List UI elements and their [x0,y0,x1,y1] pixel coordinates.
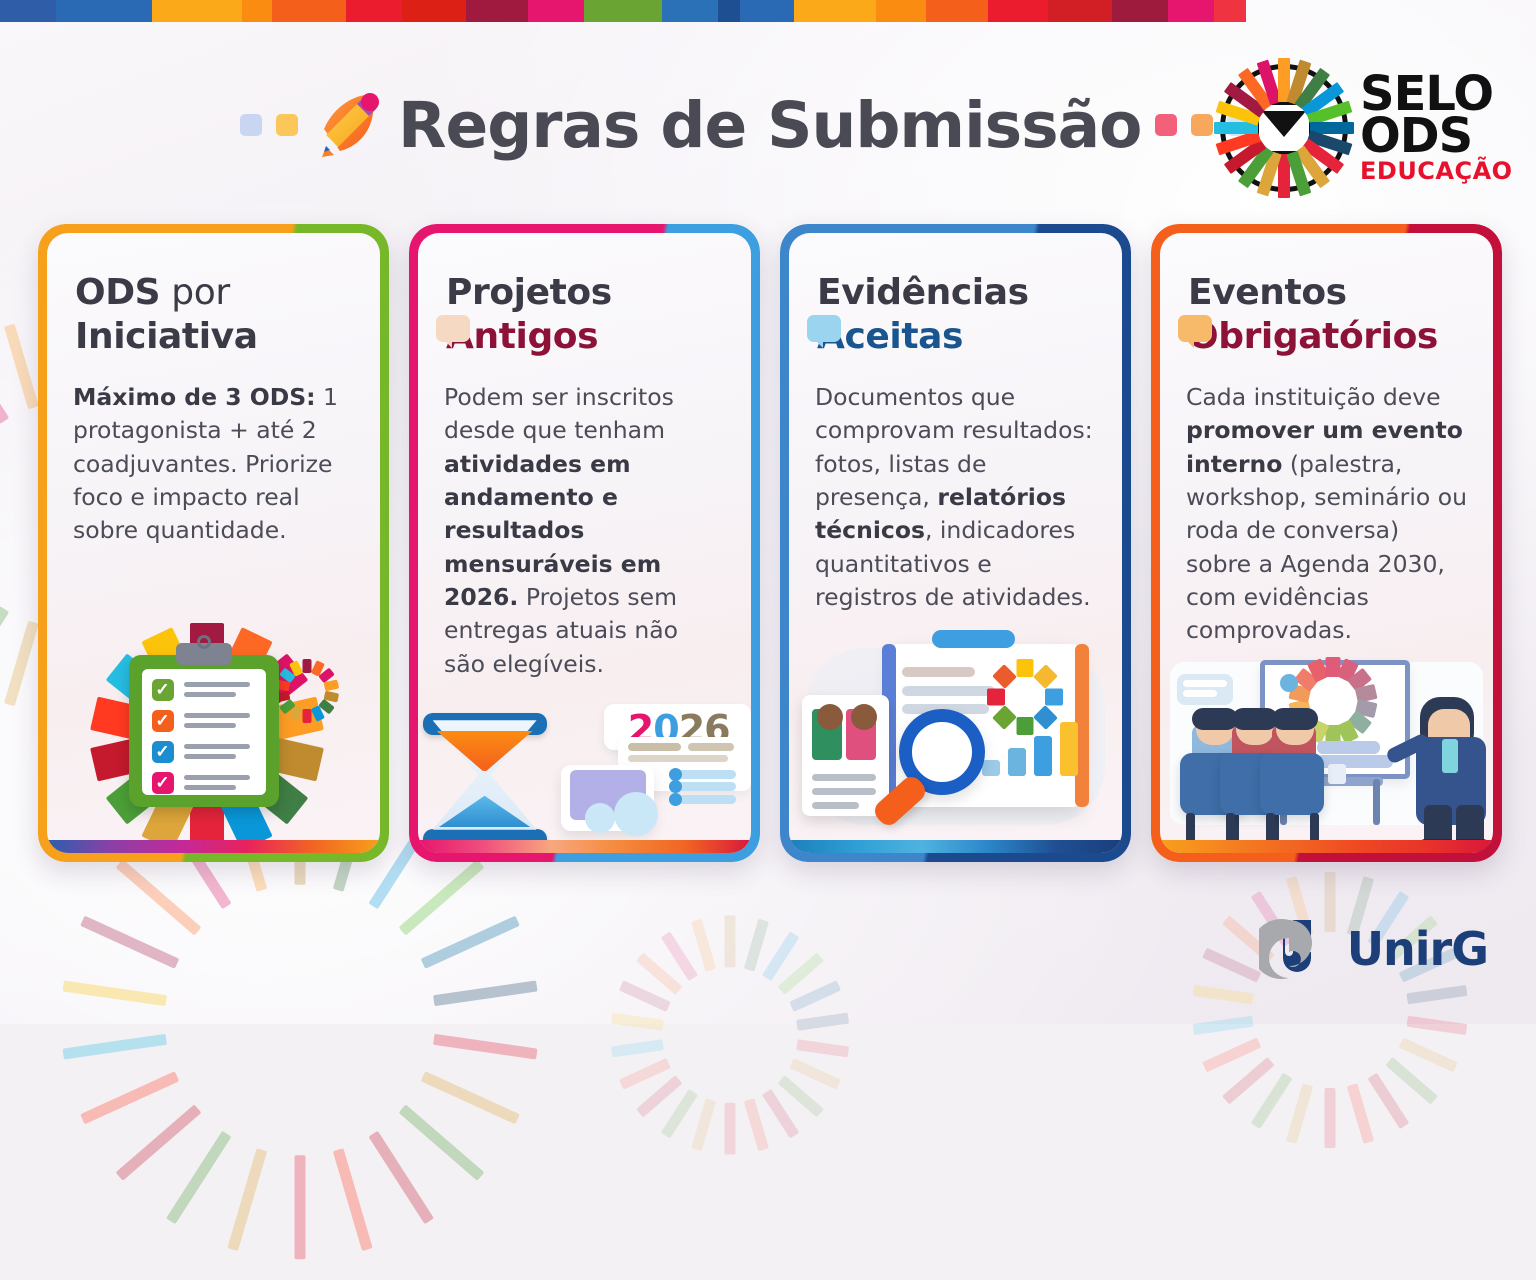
top-color-bar [0,0,1536,22]
sdg-wheel-icon [1220,64,1348,192]
rule-card-evidencias-aceitas[interactable]: EvidênciasAceitasDocumentos que comprova… [780,224,1131,862]
top-bar-segment [794,0,876,22]
card-illustration-hourglass-2026-documents: 2026 [418,687,751,853]
donut-segment [993,664,1018,689]
wheel-segment [62,981,167,1007]
card-illustration-sdg-wheel-clipboard-checklist: ✓✓✓✓ [47,554,380,853]
wheel-segment [4,324,39,410]
wheel-segment [796,1039,849,1057]
wheel-segment [691,919,716,972]
wheel-segment [1193,985,1254,1004]
wheel-segment [399,859,485,935]
top-bar-segment [662,0,718,22]
wheel-segment [0,606,9,684]
wheel-segment [421,916,520,969]
art-shape [812,774,875,781]
art-shape [184,754,236,759]
art-shape [184,785,236,790]
art-shape [614,792,658,836]
card-footer-bar [789,840,1122,853]
top-bar-segment [876,0,926,22]
wheel-segment [1406,1016,1467,1035]
wheel-segment [62,1034,167,1060]
wheel-segment [789,980,841,1012]
art-shape [1034,736,1052,776]
top-bar-segment [402,0,466,22]
wheel-segment [611,1039,664,1057]
checklist-check-icon: ✓ [152,710,174,732]
art-shape [184,692,236,697]
art-shape [688,743,735,751]
rule-card-eventos-obrigatorios[interactable]: EventosObrigatóriosCada instituição deve… [1151,224,1502,862]
card-title: ProjetosAntigos [446,271,723,359]
art-shape [902,667,975,677]
card-badge-icon [1178,315,1212,342]
card-header: EventosObrigatórios [1160,233,1493,359]
title-block: Regras de Submissão [240,70,1200,180]
card-badge-icon [807,315,841,342]
art-shape [1328,764,1346,784]
art-shape [184,775,250,780]
art-shape [1192,708,1238,730]
card-header: EvidênciasAceitas [789,233,1122,359]
art-shape [184,682,250,687]
checklist-check-icon: ✓ [152,772,174,794]
art-shape [812,802,859,809]
art-shape [1442,739,1458,773]
top-bar-segment [988,0,1048,22]
rules-card-list: ODS porIniciativaMáximo de 3 ODS: 1 prot… [38,224,1502,862]
unirg-mark-icon [1259,916,1333,982]
art-shape [669,793,682,806]
checklist-check-icon: ✓ [152,741,174,763]
art-shape [902,686,995,696]
wheel-segment [433,981,538,1007]
art-shape [1183,690,1216,697]
art-shape [585,803,615,833]
page-title: Regras de Submissão [398,89,1141,162]
card-title: EventosObrigatórios [1188,271,1465,359]
donut-segment [987,689,1005,706]
top-bar-segment [1048,0,1112,22]
top-bar-segment [1112,0,1168,22]
rule-card-ods-por-iniciativa[interactable]: ODS porIniciativaMáximo de 3 ODS: 1 prot… [38,224,389,862]
pencil-icon [312,89,384,161]
top-bar-segment [528,0,584,22]
top-bar-segment [0,0,56,22]
hourglass-sand-top [437,731,533,771]
sdg-donut-icon [273,657,341,725]
unirg-wordmark: UnirG [1347,922,1488,976]
wheel-segment [116,1104,202,1180]
deco-square-icon [1191,114,1213,136]
top-bar-segment [272,0,346,22]
wheel-segment [744,1098,769,1151]
unirg-logo: UnirG [1259,916,1488,982]
wheel-segment [80,916,179,969]
donut-segment [1017,659,1034,677]
donut-segment [1045,689,1063,706]
art-shape [184,713,250,718]
donut-segment [1017,717,1034,735]
card-body-text: Documentos que comprovam resultados: fot… [789,359,1122,615]
top-bar-segment [718,0,740,22]
art-shape [982,760,1000,776]
wheel-segment [116,859,202,935]
wheel-segment [1193,1016,1254,1035]
donut-segment [302,709,311,723]
card-body-text: Podem ser inscritos desde que tenham ati… [418,359,751,681]
wheel-segment [796,1013,849,1031]
wheel-segment [1325,1088,1336,1148]
wheel-segment [1406,985,1467,1004]
wheel-segment [744,919,769,972]
art-shape [1008,748,1026,776]
art-shape [1232,708,1278,730]
art-shape [1373,779,1380,825]
art-shape [1060,722,1078,776]
donut-segment [302,659,311,673]
deco-square-icon [1155,114,1177,136]
wheel-segment [725,915,736,967]
wheel-segment [399,1104,485,1180]
wheel-segment [1286,1083,1313,1144]
top-bar-segment [152,0,242,22]
art-shape [1272,708,1318,730]
art-shape [851,704,877,730]
art-shape [812,788,875,795]
card-inner: EvidênciasAceitasDocumentos que comprova… [789,233,1122,853]
wheel-segment [1251,1073,1293,1129]
top-bar-segment [926,0,988,22]
top-bar-segment [242,0,272,22]
selo-line3: EDUCAÇÃO [1360,161,1513,182]
top-bar-segment [740,0,794,22]
deco-square-icon [276,114,298,136]
card-body-text: Cada instituição deve promover um evento… [1160,359,1493,648]
top-bar-segment [584,0,662,22]
art-shape [1317,741,1380,754]
card-footer-bar [47,840,380,853]
card-header: ProjetosAntigos [418,233,751,359]
background-wheel-icon [1180,860,1480,1160]
card-body-text: Máximo de 3 ODS: 1 protagonista + até 2 … [47,359,380,548]
art-shape [1183,680,1226,687]
background-wheel-icon [600,905,860,1165]
wheel-segment [368,1131,433,1224]
wheel-segment [4,621,39,707]
wheel-segment [1347,1083,1374,1144]
card-illustration-presentation-audience-sdg-wheel [1160,654,1493,853]
selo-line2: ODS [1360,116,1513,157]
card-footer-bar [1160,840,1493,853]
wheel-segment [1202,948,1261,983]
art-shape [1280,674,1298,692]
rule-card-projetos-antigos[interactable]: ProjetosAntigosPodem ser inscritos desde… [409,224,760,862]
wheel-segment [227,1148,267,1251]
top-bar-segment [56,0,152,22]
wheel-segment [611,1013,664,1031]
wheel-segment [725,1103,736,1155]
checklist-check-icon: ✓ [152,679,174,701]
wheel-segment [421,1071,520,1124]
art-shape [184,744,250,749]
wheel-segment [1202,1037,1261,1072]
card-inner: EventosObrigatóriosCada instituição deve… [1160,233,1493,853]
art-shape [1260,753,1324,815]
page-header: Regras de Submissão SELO ODS EDUCAÇÃO [0,52,1536,202]
card-inner: ODS porIniciativaMáximo de 3 ODS: 1 prot… [47,233,380,853]
art-shape [932,630,1015,648]
wheel-segment [80,1071,179,1124]
card-title: ODS porIniciativa [75,271,352,359]
donut-segment [323,680,339,692]
card-header: ODS porIniciativa [47,233,380,359]
wheel-segment [1399,1037,1458,1072]
art-shape [628,743,681,751]
wheel-segment [0,346,9,424]
wheel-segment [166,1131,231,1224]
wheel-segment [295,1155,306,1259]
art-shape [197,635,211,649]
card-footer-bar [418,840,751,853]
top-bar-segment [1214,0,1246,22]
deco-square-icon [240,114,262,136]
wheel-segment [433,1034,538,1060]
wheel-segment [333,1148,373,1251]
top-bar-segment [1168,0,1214,22]
top-bar-segment [346,0,402,22]
card-badge-icon [436,315,470,342]
top-bar-segment [466,0,528,22]
art-shape [184,723,236,728]
selo-wordmark: SELO ODS EDUCAÇÃO [1360,74,1513,181]
card-inner: ProjetosAntigosPodem ser inscritos desde… [418,233,751,853]
card-title: EvidênciasAceitas [817,271,1094,359]
art-shape [669,780,682,793]
selo-ods-educacao-logo: SELO ODS EDUCAÇÃO [1220,58,1488,198]
wheel-segment [691,1098,716,1151]
card-illustration-magnifier-report-charts [789,620,1122,853]
art-shape [628,755,728,762]
